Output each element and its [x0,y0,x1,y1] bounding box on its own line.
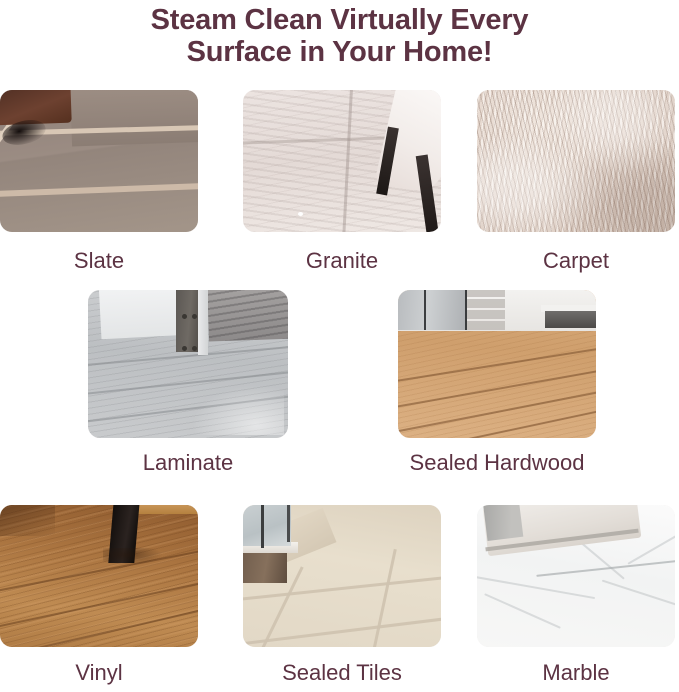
carpet-highlight-overlay [477,90,675,232]
sealed-tiles-floor-photo [243,505,441,647]
island-base-shape [545,311,596,329]
page-title-line-1: Steam Clean Virtually Every [0,4,679,36]
shower-glass-frame-1 [261,505,264,548]
surface-card-laminate[interactable]: Laminate [88,290,288,438]
cabinet-door-line [424,290,426,330]
shower-glass-frame-2 [287,505,290,542]
laminate-light-reflection [192,385,284,435]
vinyl-floor-photo [0,505,198,647]
grey-cabinet-shape [398,290,467,330]
surface-card-vinyl[interactable]: Vinyl [0,505,198,647]
carpet-floor-photo [477,90,675,232]
dark-vanity-base-shape [243,552,287,583]
surface-label-sealed-tiles: Sealed Tiles [243,660,441,686]
page-title-line-2: Surface in Your Home! [0,36,679,68]
surface-card-slate[interactable]: Slate [0,90,198,232]
white-brick-wall-shape [465,290,505,330]
surface-card-carpet[interactable]: Carpet [477,90,675,232]
slate-panel-shape [70,90,198,146]
door-trim-shape [198,290,208,355]
laminate-background-floor [207,290,288,342]
sealed-hardwood-floor-photo [398,290,596,438]
surface-label-slate: Slate [0,248,198,274]
surface-label-marble: Marble [477,660,675,686]
vinyl-shadow-region [0,505,55,536]
laminate-floor-photo [88,290,288,438]
table-leg-shadow [103,548,162,565]
page-title: Steam Clean Virtually Every Surface in Y… [0,4,679,68]
surface-types-infographic: Steam Clean Virtually Every Surface in Y… [0,0,679,692]
surface-card-sealed-tiles[interactable]: Sealed Tiles [243,505,441,647]
surface-card-marble[interactable]: Marble [477,505,675,647]
surface-label-granite: Granite [243,248,441,274]
slate-floor-photo [0,90,198,232]
door-post-shape [176,290,200,352]
surface-card-granite[interactable]: Granite [243,90,441,232]
surface-label-carpet: Carpet [477,248,675,274]
post-screw-2 [192,314,197,319]
granite-floor-photo [243,90,441,232]
surface-label-sealed-hardwood: Sealed Hardwood [398,450,596,476]
surface-label-vinyl: Vinyl [0,660,198,686]
surface-card-sealed-hardwood[interactable]: Sealed Hardwood [398,290,596,438]
surface-label-laminate: Laminate [88,450,288,476]
marble-floor-photo [477,505,675,647]
post-screw-1 [182,314,187,319]
marble-counter-side-shape [483,505,523,541]
shower-enclosure-shape [243,505,291,546]
